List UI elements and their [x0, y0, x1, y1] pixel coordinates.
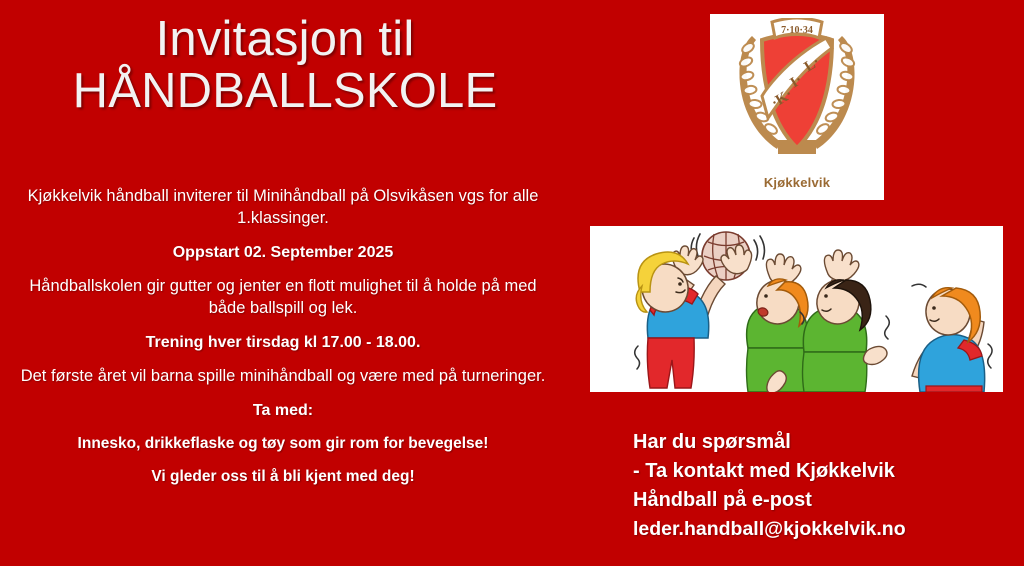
crest-founding-date: 7·10·34 — [781, 25, 813, 36]
body-paragraph-firstyear: Det første året vil barna spille minihån… — [18, 366, 548, 388]
club-logo: ·K· I· L· 7·10·34 Kjøkkelvik — [710, 14, 884, 200]
club-name-caption: Kjøkkelvik — [710, 175, 884, 190]
body-paragraph-bringitems: Innesko, drikkeflaske og tøy som gir rom… — [18, 434, 548, 455]
club-crest-icon: ·K· I· L· 7·10·34 — [722, 18, 872, 168]
body-paragraph-about: Håndballskolen gir gutter og jenter en f… — [18, 276, 548, 320]
body-text: Kjøkkelvik håndball inviterer til Minihå… — [18, 186, 548, 488]
body-paragraph-closing: Vi gleder oss til å bli kjent med deg! — [18, 467, 548, 488]
body-paragraph-startdate: Oppstart 02. September 2025 — [18, 242, 548, 263]
children-handball-photo — [590, 226, 1003, 392]
body-paragraph-intro: Kjøkkelvik håndball inviterer til Minihå… — [18, 186, 548, 230]
title-line-2: HÅNDBALLSKOLE — [0, 66, 570, 118]
contact-line-channel: Håndball på e-post — [633, 486, 1013, 515]
body-paragraph-trainingtime: Trening hver tirsdag kl 17.00 - 18.00. — [18, 332, 548, 353]
children-illustration — [590, 226, 1003, 392]
poster-canvas: Invitasjon til HÅNDBALLSKOLE Kjøkkelvik … — [0, 0, 1024, 566]
title-line-1: Invitasjon til — [0, 14, 570, 66]
page-title: Invitasjon til HÅNDBALLSKOLE — [0, 14, 570, 118]
contact-info: Har du spørsmål - Ta kontakt med Kjøkkel… — [633, 428, 1013, 543]
contact-line-club: - Ta kontakt med Kjøkkelvik — [633, 457, 1013, 486]
contact-line-question: Har du spørsmål — [633, 428, 1013, 457]
body-paragraph-bringlabel: Ta med: — [18, 400, 548, 421]
contact-email[interactable]: leder.handball@kjokkelvik.no — [633, 515, 1013, 543]
